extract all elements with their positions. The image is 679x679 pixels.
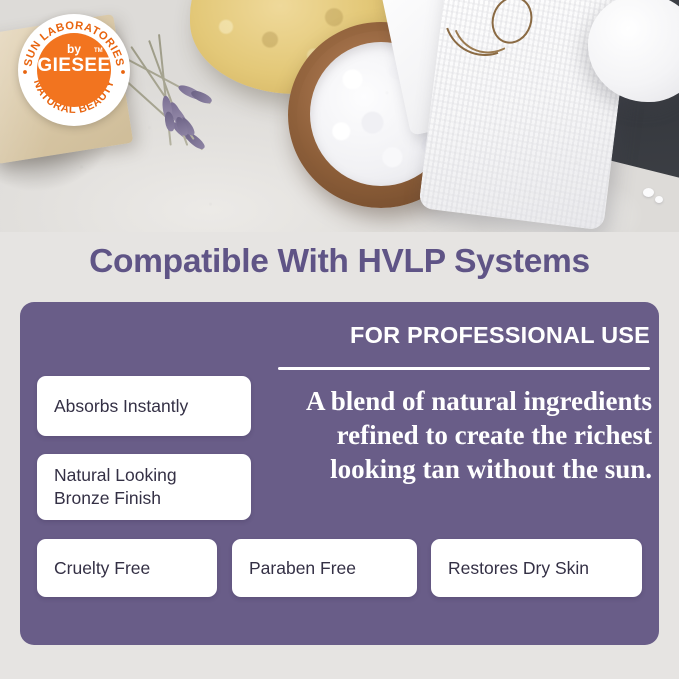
feature-pill-label: Natural Looking Bronze Finish: [37, 464, 194, 510]
feature-pill-cruelty-free[interactable]: Cruelty Free: [37, 539, 217, 597]
feature-pill-natural-looking-bronze-finish[interactable]: Natural Looking Bronze Finish: [37, 454, 251, 520]
feature-pill-paraben-free[interactable]: Paraben Free: [232, 539, 417, 597]
panel-divider: [278, 367, 650, 370]
logo-brand-name: GIESEE: [18, 55, 130, 77]
brand-logo-badge: SUN LABORATORIES NATURAL BEAUTY by TM GI…: [18, 14, 130, 126]
panel-description: A blend of natural ingredients refined t…: [270, 384, 652, 486]
feature-pill-label: Paraben Free: [232, 557, 373, 580]
feature-pill-absorbs-instantly[interactable]: Absorbs Instantly: [37, 376, 251, 436]
product-infographic: SUN LABORATORIES NATURAL BEAUTY by TM GI…: [0, 0, 679, 679]
feature-pill-label: Absorbs Instantly: [37, 395, 205, 418]
feature-pill-label: Restores Dry Skin: [431, 557, 606, 580]
features-panel: FOR PROFESSIONAL USE A blend of natural …: [20, 302, 659, 645]
page-title: Compatible With HVLP Systems: [0, 243, 679, 281]
logo-by-label: by: [18, 42, 130, 56]
feature-pill-label: Cruelty Free: [37, 557, 167, 580]
panel-section-title: FOR PROFESSIONAL USE: [278, 322, 650, 349]
feature-pill-restores-dry-skin[interactable]: Restores Dry Skin: [431, 539, 642, 597]
logo-trademark: TM: [94, 48, 103, 54]
